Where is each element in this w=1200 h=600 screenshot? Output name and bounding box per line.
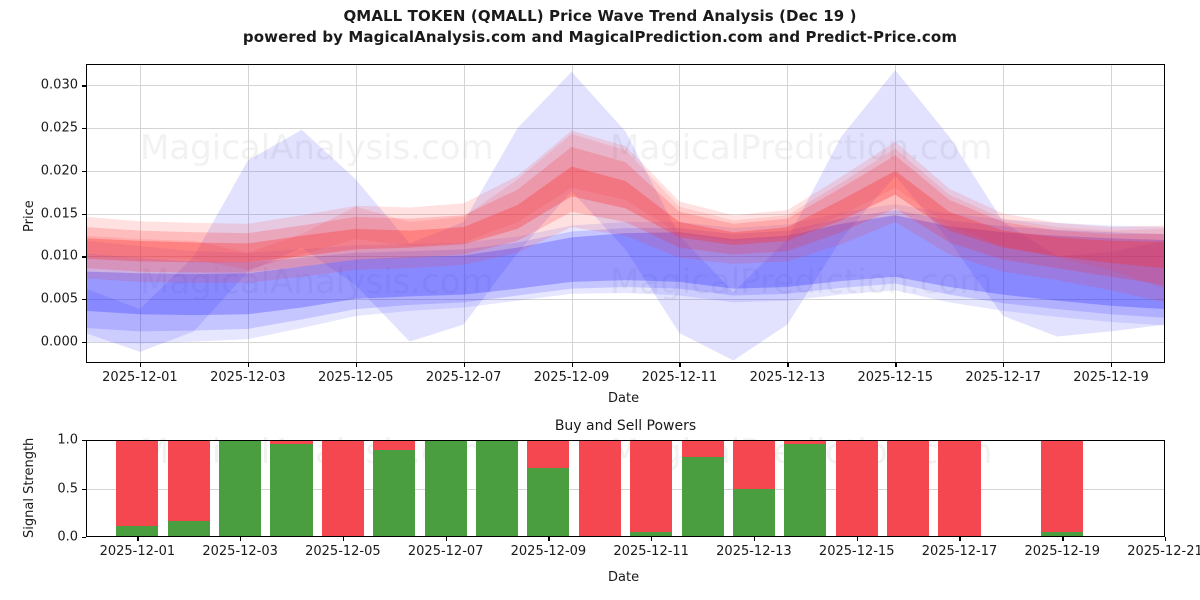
y-tick-mark xyxy=(82,440,86,441)
x-tick-mark xyxy=(679,363,680,367)
x-tick-label: 2025-12-05 xyxy=(305,544,381,559)
price-axes-frame xyxy=(86,64,1165,363)
buy-sell-powers-panel: 0.00.51.0 2025-12-012025-12-032025-12-05… xyxy=(86,440,1165,537)
chart-header: QMALL TOKEN (QMALL) Price Wave Trend Ana… xyxy=(0,6,1200,48)
x-tick-label: 2025-12-17 xyxy=(922,544,998,559)
x-tick-mark xyxy=(787,363,788,367)
y-tick-mark xyxy=(82,128,86,129)
x-tick-label: 2025-12-03 xyxy=(202,544,278,559)
x-tick-label: 2025-12-11 xyxy=(642,370,718,385)
price-y-axis-label: Price xyxy=(22,200,37,232)
y-tick-label: 1.0 xyxy=(57,433,78,448)
x-tick-label: 2025-12-13 xyxy=(716,544,792,559)
x-tick-mark xyxy=(240,537,241,541)
x-tick-label: 2025-12-13 xyxy=(750,370,826,385)
x-tick-mark xyxy=(895,363,896,367)
x-tick-label: 2025-12-09 xyxy=(511,544,587,559)
powers-x-axis-label: Date xyxy=(608,570,639,585)
x-tick-label: 2025-12-17 xyxy=(965,370,1041,385)
x-tick-label: 2025-12-07 xyxy=(408,544,484,559)
x-tick-label: 2025-12-15 xyxy=(857,370,933,385)
x-tick-mark xyxy=(548,537,549,541)
y-tick-label: 0.010 xyxy=(41,249,78,264)
x-tick-label: 2025-12-01 xyxy=(102,370,178,385)
y-tick-mark xyxy=(82,214,86,215)
y-tick-label: 0.025 xyxy=(41,121,78,136)
x-tick-mark xyxy=(1111,363,1112,367)
powers-axes-frame xyxy=(86,440,1165,537)
x-tick-mark xyxy=(857,537,858,541)
x-tick-label: 2025-12-11 xyxy=(613,544,689,559)
x-tick-mark xyxy=(446,537,447,541)
x-tick-mark xyxy=(959,537,960,541)
x-tick-mark xyxy=(356,363,357,367)
x-tick-mark xyxy=(137,537,138,541)
powers-panel-title: Buy and Sell Powers xyxy=(86,418,1165,434)
chart-page: QMALL TOKEN (QMALL) Price Wave Trend Ana… xyxy=(0,0,1200,600)
x-tick-mark xyxy=(572,363,573,367)
x-tick-mark xyxy=(651,537,652,541)
x-tick-label: 2025-12-19 xyxy=(1073,370,1149,385)
y-tick-label: 0.000 xyxy=(41,334,78,349)
x-tick-label: 2025-12-03 xyxy=(210,370,286,385)
y-tick-label: 0.020 xyxy=(41,163,78,178)
y-tick-label: 0.015 xyxy=(41,206,78,221)
y-tick-mark xyxy=(82,342,86,343)
x-tick-mark xyxy=(1003,363,1004,367)
x-tick-label: 2025-12-21 xyxy=(1127,544,1200,559)
y-tick-mark xyxy=(82,489,86,490)
x-tick-label: 2025-12-09 xyxy=(534,370,610,385)
y-tick-label: 0.005 xyxy=(41,291,78,306)
price-x-axis-label: Date xyxy=(608,391,639,406)
y-tick-mark xyxy=(82,299,86,300)
x-tick-mark xyxy=(1165,537,1166,541)
y-tick-mark xyxy=(82,537,86,538)
price-wave-panel: 0.0000.0050.0100.0150.0200.0250.030 2025… xyxy=(86,64,1165,363)
x-tick-mark xyxy=(140,363,141,367)
page-subtitle: powered by MagicalAnalysis.com and Magic… xyxy=(0,27,1200,48)
y-tick-mark xyxy=(82,85,86,86)
page-title: QMALL TOKEN (QMALL) Price Wave Trend Ana… xyxy=(0,6,1200,27)
x-tick-label: 2025-12-19 xyxy=(1024,544,1100,559)
powers-y-axis-label: Signal Strength xyxy=(22,438,37,538)
y-tick-mark xyxy=(82,171,86,172)
x-tick-label: 2025-12-05 xyxy=(318,370,394,385)
x-tick-mark xyxy=(1062,537,1063,541)
x-tick-mark xyxy=(343,537,344,541)
y-tick-label: 0.0 xyxy=(57,530,78,545)
x-tick-mark xyxy=(754,537,755,541)
y-tick-label: 0.5 xyxy=(57,481,78,496)
y-tick-mark xyxy=(82,256,86,257)
x-tick-mark xyxy=(248,363,249,367)
x-tick-label: 2025-12-15 xyxy=(819,544,895,559)
x-tick-label: 2025-12-01 xyxy=(100,544,176,559)
x-tick-label: 2025-12-07 xyxy=(426,370,502,385)
y-tick-label: 0.030 xyxy=(41,78,78,93)
x-tick-mark xyxy=(464,363,465,367)
